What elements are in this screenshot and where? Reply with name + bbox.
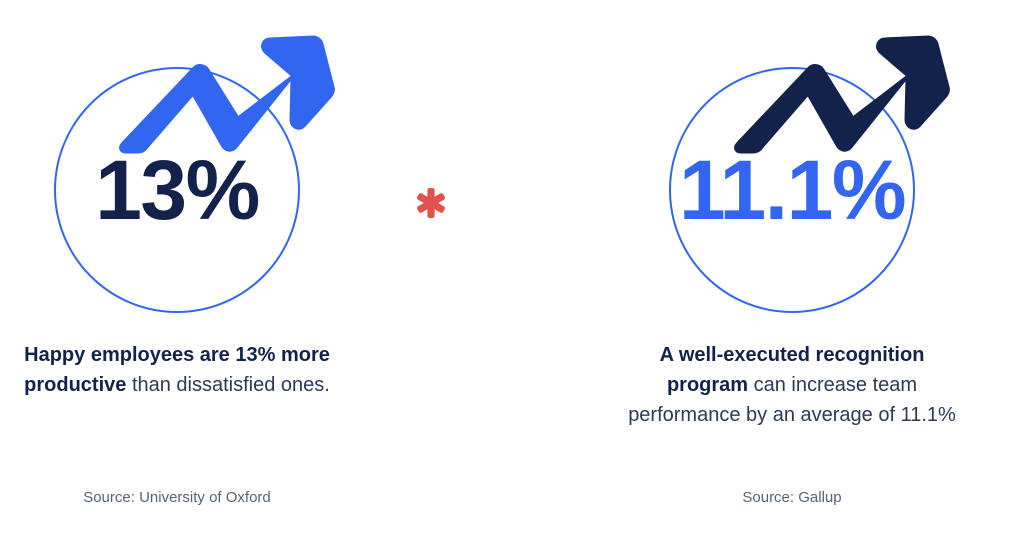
stat-source: Source: University of Oxford	[0, 487, 362, 509]
stat-caption: A well-executed recognition program can …	[607, 340, 977, 430]
upward-trend-arrow-icon	[736, 37, 949, 152]
stat-source: Source: Gallup	[607, 487, 977, 509]
stat-value: 13%	[0, 148, 362, 232]
stat-panel-recognition-program: 11.1% A well-executed recognition progra…	[607, 0, 977, 550]
stat-badge: 13%	[0, 0, 362, 320]
asterisk-icon	[411, 183, 451, 223]
stat-badge: 11.1%	[607, 0, 977, 320]
infographic-root: 13% Happy employees are 13% more product…	[0, 0, 1024, 550]
upward-trend-arrow-icon	[121, 37, 334, 152]
separator	[411, 183, 451, 223]
stat-panel-happy-employees: 13% Happy employees are 13% more product…	[0, 0, 362, 550]
stat-caption: Happy employees are 13% more productive …	[0, 340, 362, 400]
stat-caption-rest: than dissatisfied ones.	[126, 374, 329, 396]
stat-value: 11.1%	[607, 148, 977, 232]
